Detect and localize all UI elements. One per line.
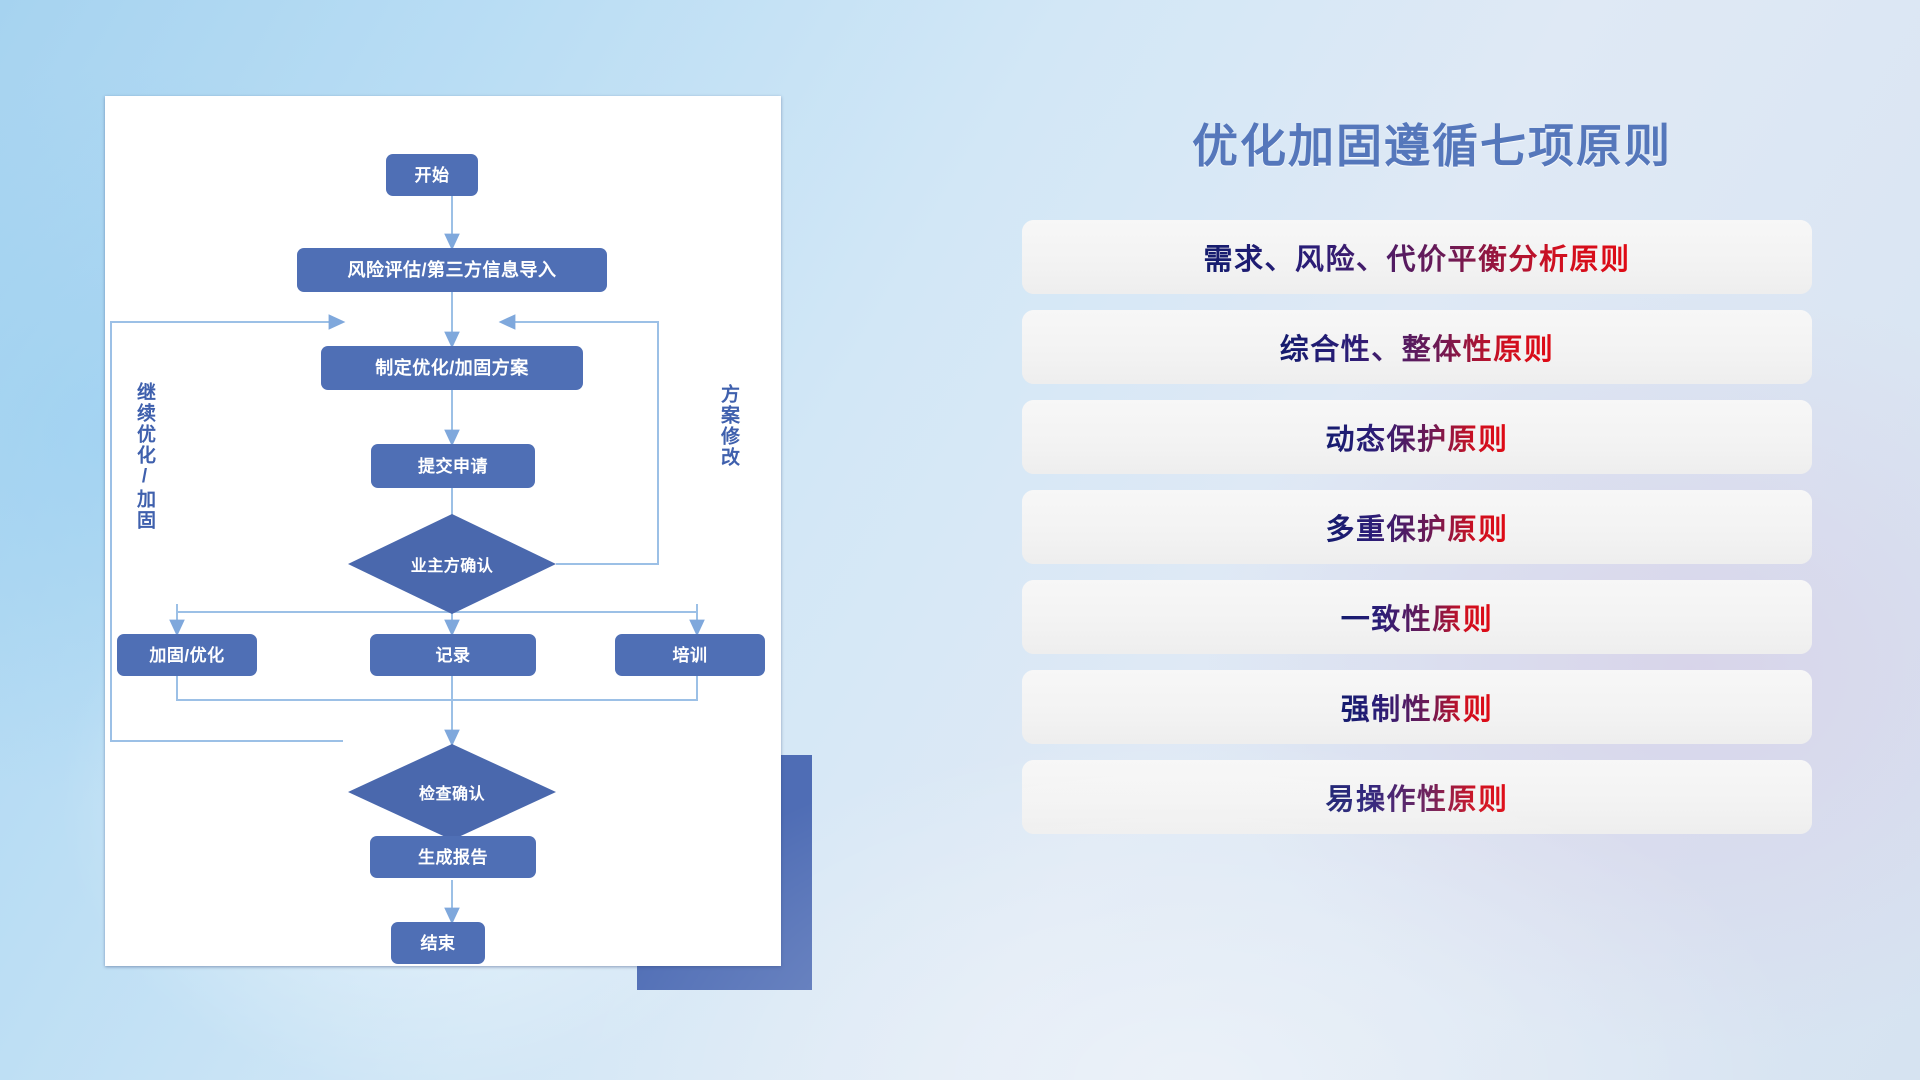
flow-edge-label-left-loop: 继续优化/加固 xyxy=(135,382,154,531)
flow-node-label: 制定优化/加固方案 xyxy=(375,359,529,377)
flow-node-record[interactable]: 记录 xyxy=(370,634,536,676)
principle-card[interactable]: 综合性、整体性原则 xyxy=(1022,310,1812,384)
flow-decision-inspection-confirm[interactable]: 检查确认 xyxy=(348,744,556,840)
flow-node-end[interactable]: 结束 xyxy=(391,922,485,964)
principle-label: 强制性原则 xyxy=(1341,686,1494,728)
flowchart: 开始 风险评估/第三方信息导入 制定优化/加固方案 提交申请 业主方确认 加固/… xyxy=(105,96,781,966)
principle-label: 多重保护原则 xyxy=(1325,506,1508,548)
principle-label: 需求、风险、代价平衡分析原则 xyxy=(1203,236,1630,278)
principle-card-surface: 动态保护原则 xyxy=(1022,400,1812,474)
flow-node-generate-report[interactable]: 生成报告 xyxy=(370,836,536,878)
principle-card-surface: 综合性、整体性原则 xyxy=(1022,310,1812,384)
principle-card-surface: 强制性原则 xyxy=(1022,670,1812,744)
flow-node-submit-application[interactable]: 提交申请 xyxy=(371,444,535,488)
flow-node-label: 培训 xyxy=(673,647,708,664)
principle-card-surface: 多重保护原则 xyxy=(1022,490,1812,564)
principle-card-surface: 易操作性原则 xyxy=(1022,760,1812,834)
flow-node-label: 提交申请 xyxy=(418,458,488,475)
principle-label: 综合性、整体性原则 xyxy=(1280,326,1555,368)
principle-label: 一致性原则 xyxy=(1341,596,1494,638)
slide-canvas: 开始 风险评估/第三方信息导入 制定优化/加固方案 提交申请 业主方确认 加固/… xyxy=(0,0,1920,1080)
flow-node-label: 加固/优化 xyxy=(149,647,224,664)
principle-card[interactable]: 多重保护原则 xyxy=(1022,490,1812,564)
flow-node-label: 检查确认 xyxy=(419,780,485,804)
principle-card[interactable]: 动态保护原则 xyxy=(1022,400,1812,474)
principle-label: 动态保护原则 xyxy=(1325,416,1508,458)
flow-node-label: 记录 xyxy=(436,647,471,664)
principle-card-surface: 需求、风险、代价平衡分析原则 xyxy=(1022,220,1812,294)
flow-node-reinforce[interactable]: 加固/优化 xyxy=(117,634,257,676)
flow-node-risk-assessment[interactable]: 风险评估/第三方信息导入 xyxy=(297,248,607,292)
principles-panel: 优化加固遵循七项原则 需求、风险、代价平衡分析原则 综合性、整体性原则 动态保护… xyxy=(1022,96,1842,996)
principle-label: 易操作性原则 xyxy=(1325,776,1508,818)
flow-node-label: 开始 xyxy=(415,167,450,184)
flow-edge-label-right-loop: 方案修改 xyxy=(719,384,738,468)
flow-node-start[interactable]: 开始 xyxy=(386,154,478,196)
principle-card-surface: 一致性原则 xyxy=(1022,580,1812,654)
flow-decision-owner-confirm[interactable]: 业主方确认 xyxy=(348,514,556,614)
flow-node-plan[interactable]: 制定优化/加固方案 xyxy=(321,346,583,390)
principles-list: 需求、风险、代价平衡分析原则 综合性、整体性原则 动态保护原则 多重保护原则 xyxy=(1022,220,1812,850)
principle-card[interactable]: 需求、风险、代价平衡分析原则 xyxy=(1022,220,1812,294)
flow-node-training[interactable]: 培训 xyxy=(615,634,765,676)
principle-card[interactable]: 一致性原则 xyxy=(1022,580,1812,654)
flow-node-label: 业主方确认 xyxy=(411,552,494,576)
flow-node-label: 结束 xyxy=(421,935,456,952)
flow-node-label: 风险评估/第三方信息导入 xyxy=(348,261,557,279)
flow-node-label: 生成报告 xyxy=(418,849,488,866)
flowchart-panel: 开始 风险评估/第三方信息导入 制定优化/加固方案 提交申请 业主方确认 加固/… xyxy=(105,96,781,966)
principle-card[interactable]: 易操作性原则 xyxy=(1022,760,1812,834)
principle-card[interactable]: 强制性原则 xyxy=(1022,670,1812,744)
page-title: 优化加固遵循七项原则 xyxy=(1022,110,1842,176)
